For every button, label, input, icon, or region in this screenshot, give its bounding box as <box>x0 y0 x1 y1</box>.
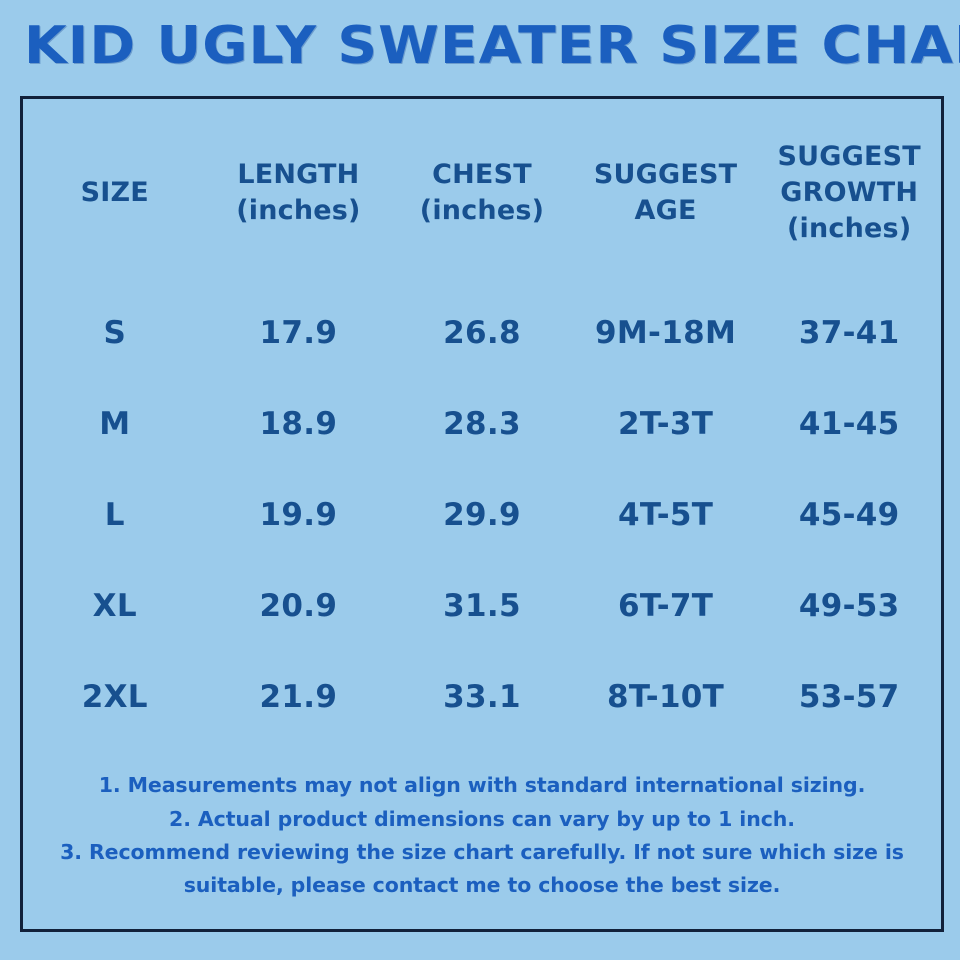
cell-age: 9M-18M <box>574 287 758 378</box>
note-item: 2. Actual product dimensions can vary by… <box>23 803 941 836</box>
header-line: CHEST <box>390 157 574 193</box>
cell-size: S <box>23 287 207 378</box>
table-header: SIZE LENGTH (inches) CHEST (inches) SUGG… <box>23 99 941 287</box>
column-header-length: LENGTH (inches) <box>207 99 391 287</box>
header-row: SIZE LENGTH (inches) CHEST (inches) SUGG… <box>23 99 941 287</box>
table-row: M 18.9 28.3 2T-3T 41-45 <box>23 378 941 469</box>
note-item: 3. Recommend reviewing the size chart ca… <box>23 836 941 869</box>
table-body: S 17.9 26.8 9M-18M 37-41 M 18.9 28.3 2T-… <box>23 287 941 929</box>
cell-size: 2XL <box>23 652 207 743</box>
cell-size: L <box>23 469 207 560</box>
cell-length: 18.9 <box>207 378 391 469</box>
table-row: S 17.9 26.8 9M-18M 37-41 <box>23 287 941 378</box>
header-line: SUGGEST <box>757 139 941 175</box>
cell-age: 6T-7T <box>574 560 758 651</box>
header-line: (inches) <box>207 193 391 229</box>
cell-growth: 53-57 <box>757 652 941 743</box>
table-row: L 19.9 29.9 4T-5T 45-49 <box>23 469 941 560</box>
cell-age: 4T-5T <box>574 469 758 560</box>
column-header-suggest-age: SUGGEST AGE <box>574 99 758 287</box>
size-chart-page: KID UGLY SWEATER SIZE CHART SIZE LENGTH … <box>0 0 960 960</box>
column-header-size: SIZE <box>23 99 207 287</box>
cell-chest: 29.9 <box>390 469 574 560</box>
header-line: SIZE <box>23 175 207 211</box>
size-table-container: SIZE LENGTH (inches) CHEST (inches) SUGG… <box>20 96 944 932</box>
header-line: GROWTH <box>757 175 941 211</box>
note-item: suitable, please contact me to choose th… <box>23 869 941 902</box>
header-line: (inches) <box>390 193 574 229</box>
header-line: (inches) <box>757 211 941 247</box>
notes-row: 1. Measurements may not align with stand… <box>23 743 941 929</box>
cell-age: 2T-3T <box>574 378 758 469</box>
notes-list: 1. Measurements may not align with stand… <box>23 769 941 902</box>
cell-chest: 33.1 <box>390 652 574 743</box>
page-title: KID UGLY SWEATER SIZE CHART <box>24 12 960 80</box>
cell-growth: 41-45 <box>757 378 941 469</box>
header-line: SUGGEST <box>574 157 758 193</box>
table-row: XL 20.9 31.5 6T-7T 49-53 <box>23 560 941 651</box>
cell-length: 21.9 <box>207 652 391 743</box>
cell-chest: 28.3 <box>390 378 574 469</box>
header-line: LENGTH <box>207 157 391 193</box>
cell-growth: 37-41 <box>757 287 941 378</box>
cell-length: 17.9 <box>207 287 391 378</box>
table-row: 2XL 21.9 33.1 8T-10T 53-57 <box>23 652 941 743</box>
cell-chest: 26.8 <box>390 287 574 378</box>
cell-growth: 45-49 <box>757 469 941 560</box>
cell-length: 20.9 <box>207 560 391 651</box>
cell-growth: 49-53 <box>757 560 941 651</box>
size-table: SIZE LENGTH (inches) CHEST (inches) SUGG… <box>23 99 941 929</box>
header-line: AGE <box>574 193 758 229</box>
cell-chest: 31.5 <box>390 560 574 651</box>
note-item: 1. Measurements may not align with stand… <box>23 769 941 802</box>
column-header-chest: CHEST (inches) <box>390 99 574 287</box>
cell-length: 19.9 <box>207 469 391 560</box>
column-header-suggest-growth: SUGGEST GROWTH (inches) <box>757 99 941 287</box>
cell-size: M <box>23 378 207 469</box>
cell-age: 8T-10T <box>574 652 758 743</box>
cell-size: XL <box>23 560 207 651</box>
notes-cell: 1. Measurements may not align with stand… <box>23 743 941 929</box>
